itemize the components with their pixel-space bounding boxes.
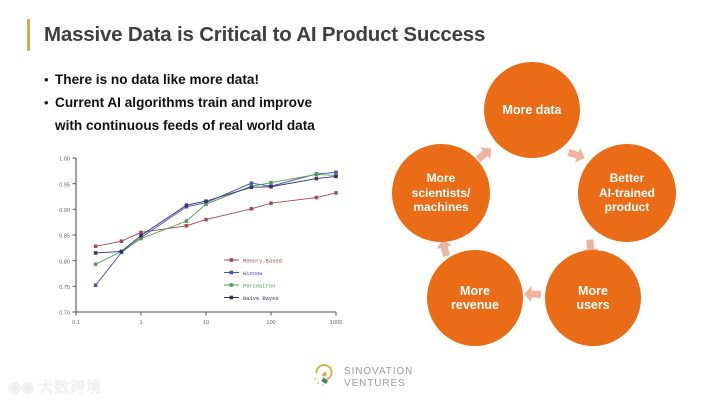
list-item: • There is no data like more data! bbox=[44, 69, 384, 90]
svg-text:0.95: 0.95 bbox=[59, 182, 70, 188]
title-accent-bar bbox=[27, 19, 30, 51]
cycle-node-more-revenue: Morerevenue bbox=[427, 250, 523, 346]
svg-text:0.80: 0.80 bbox=[59, 259, 70, 265]
virtuous-cycle-diagram: More data BetterAI-trainedproduct Moreus… bbox=[382, 62, 704, 352]
list-item: • Current AI algorithms train and improv… bbox=[44, 92, 384, 113]
svg-text:0.90: 0.90 bbox=[59, 208, 70, 214]
svg-text:0.85: 0.85 bbox=[59, 234, 70, 240]
cycle-arrow-icon bbox=[524, 286, 542, 303]
logo-line-2: VENTURES bbox=[344, 378, 413, 390]
cycle-arrow-icon bbox=[566, 145, 587, 165]
cycle-node-label: Morerevenue bbox=[451, 284, 499, 313]
cycle-node-label: Morescientists/machines bbox=[412, 171, 471, 215]
svg-text:1: 1 bbox=[139, 320, 142, 326]
svg-text:0.75: 0.75 bbox=[59, 285, 70, 291]
cycle-node-label: Moreusers bbox=[576, 284, 609, 313]
logo-line-1: SINOVATION bbox=[344, 366, 413, 378]
svg-text:100: 100 bbox=[266, 320, 275, 326]
svg-text:0.70: 0.70 bbox=[59, 311, 70, 317]
footer-logo: SINOVATION VENTURES bbox=[311, 362, 413, 393]
watermark-text: 大数跨境 bbox=[38, 376, 102, 397]
chart-series-group bbox=[94, 171, 337, 287]
svg-text:1000: 1000 bbox=[330, 320, 342, 326]
cycle-node-more-users: Moreusers bbox=[545, 250, 641, 346]
lightbulb-icon bbox=[311, 362, 337, 393]
bullet-list: • There is no data like more data! • Cur… bbox=[44, 69, 384, 138]
chart-y-axis: 0.700.750.800.850.900.951.00 bbox=[59, 157, 76, 317]
cycle-node-more-scientists: Morescientists/machines bbox=[392, 144, 490, 242]
learning-curve-chart: 0.700.750.800.850.900.951.00 0.111010010… bbox=[28, 148, 348, 344]
svg-text:Naive Bayes: Naive Bayes bbox=[243, 296, 279, 302]
page-title: Massive Data is Critical to AI Product S… bbox=[44, 23, 485, 47]
logo-wordmark: SINOVATION VENTURES bbox=[344, 366, 413, 389]
chart-legend: Memory-BasedWinnowPerceptronNaive Bayes bbox=[224, 258, 282, 302]
svg-text:Winnow: Winnow bbox=[243, 271, 263, 277]
list-item: with continuous feeds of real world data bbox=[44, 115, 384, 136]
svg-text:Memory-Based: Memory-Based bbox=[243, 258, 282, 264]
chart-svg: 0.700.750.800.850.900.951.00 0.111010010… bbox=[28, 148, 348, 344]
bullet-text: There is no data like more data! bbox=[55, 69, 259, 90]
watermark: ◉◉ 大数跨境 bbox=[8, 376, 102, 397]
svg-text:1.00: 1.00 bbox=[59, 157, 70, 163]
bullet-marker-icon: • bbox=[44, 92, 55, 113]
cycle-node-label: More data bbox=[502, 103, 561, 118]
cycle-node-better-product: BetterAI-trainedproduct bbox=[578, 144, 676, 242]
bullet-marker-icon: • bbox=[44, 69, 55, 90]
cycle-node-label: BetterAI-trainedproduct bbox=[599, 171, 655, 215]
cycle-node-more-data: More data bbox=[484, 62, 580, 158]
bullet-text: with continuous feeds of real world data bbox=[55, 115, 315, 136]
chart-x-axis: 0.11101001000 bbox=[72, 312, 342, 326]
svg-text:0.1: 0.1 bbox=[72, 320, 80, 326]
bullet-text: Current AI algorithms train and improve bbox=[55, 92, 312, 113]
slide-canvas: Massive Data is Critical to AI Product S… bbox=[0, 0, 720, 405]
title-area: Massive Data is Critical to AI Product S… bbox=[27, 18, 485, 52]
watermark-logo-icon: ◉◉ bbox=[8, 378, 34, 396]
svg-text:10: 10 bbox=[203, 320, 209, 326]
svg-text:Perceptron: Perceptron bbox=[243, 283, 275, 289]
